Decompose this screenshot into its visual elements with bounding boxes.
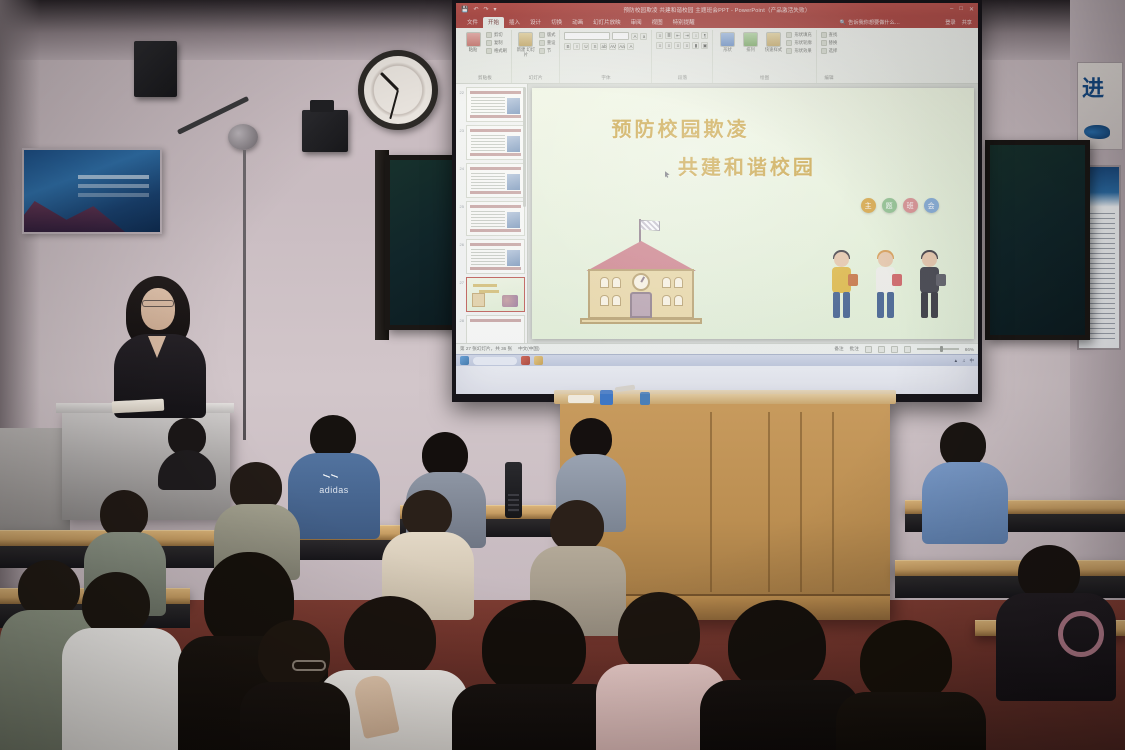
adidas-logo-text: adidas: [319, 485, 349, 495]
student-hair-long: [836, 692, 986, 750]
slide-thumbnail[interactable]: [466, 201, 525, 236]
slide-editing-area[interactable]: 预防校园欺凌 共建和谐校园 主 题 班 会: [528, 84, 978, 343]
layout-icon: [539, 32, 545, 38]
badge-1: 主: [861, 198, 876, 213]
lectern-panel-seam: [768, 412, 770, 592]
slide-thumbnail[interactable]: [466, 87, 525, 122]
ribbon-group-editing: 查找 替换 选择 编辑: [817, 30, 842, 83]
ppt-titlebar: 💾 ↶ ↷ ▾ 预防校园欺凌 共建和谐校园 主题班会PPT - PowerPoi…: [456, 3, 978, 16]
effects-icon: [786, 48, 792, 54]
search-icon: 🔍: [840, 20, 846, 26]
school-base: [580, 318, 702, 324]
ribbon-group-paragraph: ≡ ≣ ⇤ ⇥ ↕ ¶ ≡ ≡ ≡ ≡ ▮: [652, 30, 713, 83]
format-painter-button[interactable]: 格式刷: [486, 48, 507, 54]
school-window: [600, 295, 609, 306]
shapes-icon: [720, 32, 735, 47]
thumbnail-number: 28: [458, 315, 464, 343]
glasses-icon: [292, 660, 326, 671]
cut-button[interactable]: 剪切: [486, 32, 507, 38]
sorter-view-icon[interactable]: [878, 346, 885, 353]
student-jacket: [996, 593, 1116, 701]
italic-button[interactable]: I: [573, 43, 580, 50]
student-head: [258, 620, 330, 690]
classroom-scene: 进 💾 ↶ ↷ ▾ 预防校园欺凌 共建和谐校园 主题班会PPT - PowerP…: [0, 0, 1125, 750]
student-head: [550, 500, 604, 552]
font-name-input[interactable]: [564, 32, 610, 40]
blue-cup: [600, 390, 613, 405]
slide-thumbnail[interactable]: [466, 163, 525, 198]
copy-label: 复制: [494, 40, 503, 46]
tab-file[interactable]: 文件: [462, 17, 483, 28]
thumb-title-bar: [470, 319, 521, 322]
group-label-slides: 幻灯片: [529, 75, 543, 82]
lectern-panel-seam: [832, 412, 834, 592]
school-clock-icon: [632, 273, 650, 291]
reset-button[interactable]: 重设: [539, 40, 556, 46]
normal-view-icon[interactable]: [865, 346, 872, 353]
tab-insert[interactable]: 插入: [504, 17, 525, 28]
paste-label: 粘贴: [469, 48, 478, 53]
ribbon[interactable]: 粘贴 剪切 复制: [456, 28, 978, 84]
bullets-button[interactable]: ≡: [656, 32, 663, 39]
zoom-slider[interactable]: [917, 348, 959, 350]
adidas-logo-icon: [323, 469, 345, 483]
quick-styles-label: 快速样式: [765, 48, 782, 53]
school-window: [662, 277, 671, 288]
signin-label[interactable]: 登录: [945, 19, 955, 26]
minimize-icon[interactable]: –: [950, 6, 953, 13]
student-head: [878, 252, 893, 267]
align-left-button[interactable]: ≡: [656, 42, 663, 49]
tab-slideshow[interactable]: 幻灯片放映: [588, 17, 626, 28]
explorer-icon[interactable]: [534, 356, 543, 365]
thumbnail-scrollbar[interactable]: [523, 87, 526, 207]
reset-icon: [539, 40, 545, 46]
share-label[interactable]: 共享: [962, 19, 972, 26]
thumbnail-number: 25: [458, 201, 464, 236]
language-indicator[interactable]: 中文(中国): [518, 346, 539, 352]
char-spacing-button[interactable]: AV: [609, 43, 616, 50]
tab-view[interactable]: 视图: [647, 17, 668, 28]
justify-button[interactable]: ≡: [683, 42, 690, 49]
thumb-footer-bar: [470, 229, 521, 232]
thumbnail-number: 27: [458, 277, 464, 312]
student: [836, 620, 986, 750]
comments-button[interactable]: 批注: [850, 346, 859, 352]
slide-thumbnail[interactable]: [466, 315, 525, 343]
student: [240, 620, 350, 750]
thumb-footer-bar: [470, 267, 521, 270]
thumbnail-row[interactable]: 25: [458, 201, 525, 236]
clock-face: [369, 61, 427, 119]
projection-screen: 💾 ↶ ↷ ▾ 预防校园欺凌 共建和谐校园 主题班会PPT - PowerPoi…: [452, 0, 982, 402]
scissors-icon: [486, 32, 492, 38]
shapes-label: 形状: [723, 48, 732, 53]
presenter-face: [141, 288, 175, 330]
volume-icon[interactable]: ♫: [962, 358, 965, 363]
group-label-paragraph: 段落: [678, 75, 687, 82]
network-icon[interactable]: ▲: [954, 358, 958, 363]
bold-button[interactable]: B: [564, 43, 571, 50]
lectern-panel-seam: [800, 412, 802, 592]
close-icon[interactable]: ✕: [969, 6, 974, 13]
lectern-panel-seam: [710, 412, 712, 592]
arrange-button[interactable]: 排列: [740, 32, 760, 53]
paste-button[interactable]: 粘贴: [463, 32, 483, 53]
student-leg: [931, 292, 938, 318]
tab-animations[interactable]: 动画: [567, 17, 588, 28]
tell-me-label: 告诉我你想要做什么…: [848, 19, 900, 26]
projected-desktop: 💾 ↶ ↷ ▾ 预防校园欺凌 共建和谐校园 主题班会PPT - PowerPoi…: [456, 3, 978, 394]
slide-thumbnail-current[interactable]: [466, 277, 525, 312]
shadow-button[interactable]: S: [591, 43, 598, 50]
shape-effects-button[interactable]: 形状效果: [786, 48, 811, 54]
reading-view-icon[interactable]: [891, 346, 898, 353]
wall-speaker-left: [134, 41, 177, 97]
arrange-icon: [743, 32, 758, 47]
layout-button[interactable]: 版式: [539, 32, 556, 38]
section-label: 节: [547, 48, 551, 54]
slide-counter: 第 27 张幻灯片，共 36 张: [460, 346, 512, 352]
ribbon-group-slides: 新建 幻灯片 版式 重设: [512, 30, 561, 83]
student-bag-icon: [936, 274, 946, 286]
entrance-sign-label: 进: [1082, 71, 1104, 103]
slide-badges: 主 题 班 会: [861, 198, 939, 213]
align-right-button[interactable]: ≡: [674, 42, 681, 49]
columns-button[interactable]: ▮: [692, 42, 699, 49]
student-shirt: [62, 628, 182, 750]
student-blue-sweater: [922, 422, 1008, 540]
tab-transitions[interactable]: 切换: [546, 17, 567, 28]
student-leg: [921, 292, 928, 318]
paste-icon: [466, 32, 481, 47]
group-label-drawing: 绘图: [760, 75, 769, 82]
text-direction-button[interactable]: ¶: [701, 32, 708, 39]
ime-icon[interactable]: 中: [970, 358, 975, 364]
blackboard-right: [985, 140, 1090, 340]
taskbar-search-input[interactable]: [473, 357, 517, 365]
student-bag-icon: [848, 274, 858, 286]
smartart-button[interactable]: ▣: [701, 42, 708, 49]
ribbon-group-drawing: 形状 排列 快速样式 形状填充: [713, 30, 816, 83]
select-button[interactable]: 选择: [821, 48, 838, 54]
slideshow-view-icon[interactable]: [904, 346, 911, 353]
school-roof: [576, 241, 706, 271]
copy-button[interactable]: 复制: [486, 40, 507, 46]
poster-left-mountains: [22, 193, 130, 234]
strikethrough-button[interactable]: ab: [600, 43, 607, 50]
slide-thumbnail[interactable]: [466, 125, 525, 160]
thumbnail-row[interactable]: 26: [458, 239, 525, 274]
shape-effects-label: 形状效果: [794, 48, 811, 54]
student-head: [922, 252, 937, 267]
slide-thumbnail[interactable]: [466, 239, 525, 274]
student-leg: [833, 292, 840, 318]
thumbnail-number: 24: [458, 163, 464, 198]
tab-review[interactable]: 审阅: [626, 17, 647, 28]
thumb-title-text: [473, 284, 497, 287]
school-window: [612, 295, 621, 306]
student-head: [100, 490, 148, 538]
wall-speaker-right: [302, 110, 348, 152]
school-door: [630, 292, 652, 318]
increase-font-icon[interactable]: A: [631, 33, 638, 40]
jacket-graphic-icon: [1058, 611, 1104, 657]
shape-fill-label: 形状填充: [794, 32, 811, 38]
section-icon: [539, 48, 545, 54]
thumb-title-bar: [470, 129, 521, 132]
align-center-button[interactable]: ≡: [665, 42, 672, 49]
share-area[interactable]: 登录 共享: [945, 19, 972, 26]
start-icon[interactable]: [460, 356, 469, 365]
copy-icon: [486, 40, 492, 46]
glasses-icon: [142, 300, 174, 307]
windows-taskbar[interactable]: ▲ ♫ 中: [456, 354, 978, 366]
lamp-pole: [243, 150, 246, 440]
replace-button[interactable]: 替换: [821, 40, 838, 46]
student-leg: [877, 292, 884, 318]
ppt-status-bar[interactable]: 第 27 张幻灯片，共 36 张 中文(中国) 备注 批注 66%: [456, 343, 978, 354]
shapes-button[interactable]: 形状: [717, 32, 737, 53]
ppt-document-title: 预防校园欺凌 共建和谐校园 主题班会PPT - PowerPoint（产品激活失…: [456, 6, 978, 14]
numbering-button[interactable]: ≣: [665, 32, 672, 39]
current-slide[interactable]: 预防校园欺凌 共建和谐校园 主 题 班 会: [532, 88, 974, 339]
student-hoodie: adidas: [288, 453, 380, 539]
ribbon-group-font: A a B I U S ab AV Aa A: [560, 30, 652, 83]
ppt-workspace: 22 23: [456, 84, 978, 343]
student-head: [482, 600, 586, 696]
cut-label: 剪切: [494, 32, 503, 38]
student-head: [618, 592, 700, 674]
flag-icon: [640, 220, 660, 231]
replace-label: 替换: [829, 40, 838, 46]
student-figure-1: [827, 252, 857, 324]
fill-icon: [786, 32, 792, 38]
school-window: [600, 277, 609, 288]
thumbnail-number: 22: [458, 87, 464, 122]
notes-button[interactable]: 备注: [834, 346, 843, 352]
cordless-phone: [505, 462, 522, 518]
badge-2: 题: [882, 198, 897, 213]
restore-icon[interactable]: □: [959, 6, 963, 13]
tab-special[interactable]: 特别提醒: [668, 17, 700, 28]
select-label: 选择: [829, 48, 838, 54]
brush-icon: [486, 48, 492, 54]
student-leg: [843, 292, 850, 318]
thumb-text-lines: [471, 135, 505, 153]
find-icon: [821, 32, 827, 38]
select-icon: [821, 48, 827, 54]
thumb-school-icon: [472, 293, 485, 307]
decrease-indent-button[interactable]: ⇤: [674, 32, 681, 39]
thumb-text-lines: [471, 97, 505, 115]
school-window: [674, 277, 683, 288]
outline-icon: [786, 40, 792, 46]
thumb-footer-bar: [470, 153, 521, 156]
thumbnail-row[interactable]: 22: [458, 87, 525, 122]
school-window: [674, 295, 683, 306]
change-case-button[interactable]: Aa: [618, 43, 625, 50]
student-head: [402, 490, 452, 538]
layout-label: 版式: [547, 32, 556, 38]
section-button[interactable]: 节: [539, 48, 556, 54]
group-label-editing: 编辑: [824, 75, 833, 82]
thumb-text-lines: [471, 173, 505, 191]
underline-button[interactable]: U: [582, 43, 589, 50]
thumbnail-row[interactable]: 23: [458, 125, 525, 160]
decrease-font-icon[interactable]: a: [640, 33, 647, 40]
shape-fill-button[interactable]: 形状填充: [786, 32, 811, 38]
tab-home[interactable]: 开始: [483, 17, 504, 28]
wall-clock: [358, 50, 438, 130]
slide-thumbnail-panel[interactable]: 22 23: [456, 84, 528, 343]
increase-indent-button[interactable]: ⇥: [683, 32, 690, 39]
entrance-sign-logo-icon: [1084, 125, 1110, 139]
new-slide-icon: [518, 32, 533, 47]
blue-marker: [640, 392, 650, 405]
tell-me-box[interactable]: 🔍 告诉我你想要做什么…: [840, 19, 900, 26]
student-head: [728, 600, 826, 692]
quick-styles-icon: [766, 32, 781, 47]
find-label: 查找: [829, 32, 838, 38]
thumb-title-bar: [470, 205, 521, 208]
thumb-title-bar: [470, 167, 521, 170]
slide-title-line-2: 共建和谐校园: [678, 151, 816, 180]
thumb-image: [507, 174, 520, 190]
new-slide-label: 新建 幻灯片: [516, 48, 536, 57]
zoom-level[interactable]: 66%: [965, 347, 974, 352]
slide-title-line-1: 预防校园欺凌: [612, 113, 750, 142]
student-bag-icon: [892, 274, 902, 286]
thumbnail-number: 23: [458, 125, 464, 160]
replace-icon: [821, 40, 827, 46]
school-window: [612, 277, 621, 288]
badge-3: 班: [903, 198, 918, 213]
font-color-button[interactable]: A: [627, 43, 634, 50]
thumb-footer-bar: [470, 191, 521, 194]
font-size-input[interactable]: [612, 32, 629, 40]
poster-left-text: [78, 175, 149, 179]
line-spacing-button[interactable]: ↕: [692, 32, 699, 39]
student-leg: [887, 292, 894, 318]
arrange-label: 排列: [746, 48, 755, 53]
thumbnail-row[interactable]: 28: [458, 315, 525, 343]
poster-left: [22, 148, 162, 234]
ribbon-tabs[interactable]: 文件 开始 插入 设计 切换 动画 幻灯片放映 审阅 视图 特别提醒 🔍 告诉我…: [456, 16, 978, 28]
shape-outline-label: 形状轮廓: [794, 40, 811, 46]
student: [158, 418, 216, 484]
student-head: [834, 252, 849, 267]
thumb-image: [507, 250, 520, 266]
powerpoint-taskbar-icon[interactable]: [521, 356, 530, 365]
thumb-title-bar: [470, 243, 521, 246]
reset-label: 重设: [547, 40, 556, 46]
student-body: [240, 682, 350, 750]
thumb-image: [507, 136, 520, 152]
student-sweater: [922, 462, 1008, 544]
badge-4: 会: [924, 198, 939, 213]
thumb-title-bar: [470, 91, 521, 94]
school-window: [662, 295, 671, 306]
thumb-kids-icon: [502, 295, 518, 307]
tab-design[interactable]: 设计: [525, 17, 546, 28]
thumb-image: [507, 98, 520, 114]
student-head: [82, 572, 150, 636]
system-tray[interactable]: ▲ ♫ 中: [954, 358, 974, 364]
student-body: [158, 450, 216, 490]
thumb-text-lines: [471, 211, 505, 229]
mouse-cursor-icon: [665, 171, 670, 178]
paper-stack: [568, 395, 594, 403]
thumbnail-row-selected[interactable]: 27: [458, 277, 525, 312]
group-label-clipboard: 剪贴板: [478, 75, 492, 82]
thumbnail-row[interactable]: 24: [458, 163, 525, 198]
find-button[interactable]: 查找: [821, 32, 838, 38]
format-painter-label: 格式刷: [494, 48, 507, 54]
group-label-font: 字体: [601, 75, 610, 82]
window-buttons[interactable]: – □ ✕: [950, 6, 974, 13]
school-building-illustration: [576, 219, 706, 324]
quick-styles-button[interactable]: 快速样式: [763, 32, 783, 53]
thumb-image: [507, 212, 520, 228]
ribbon-group-clipboard: 粘贴 剪切 复制: [459, 30, 512, 83]
new-slide-button[interactable]: 新建 幻灯片: [516, 32, 536, 57]
thumb-footer-bar: [470, 115, 521, 118]
shape-outline-button[interactable]: 形状轮廓: [786, 40, 811, 46]
student-adidas-hoodie: adidas: [288, 415, 380, 535]
student-figure-2: [871, 252, 901, 324]
thumbnail-number: 26: [458, 239, 464, 274]
thumb-text-lines: [471, 249, 505, 267]
lamp-head-icon: [228, 124, 258, 150]
entrance-sign: 进: [1077, 62, 1123, 150]
student-white-shirt: [62, 572, 182, 750]
student-figure-3: [915, 252, 945, 324]
student-dark-jacket: [996, 545, 1116, 695]
students-illustration: [827, 246, 947, 324]
